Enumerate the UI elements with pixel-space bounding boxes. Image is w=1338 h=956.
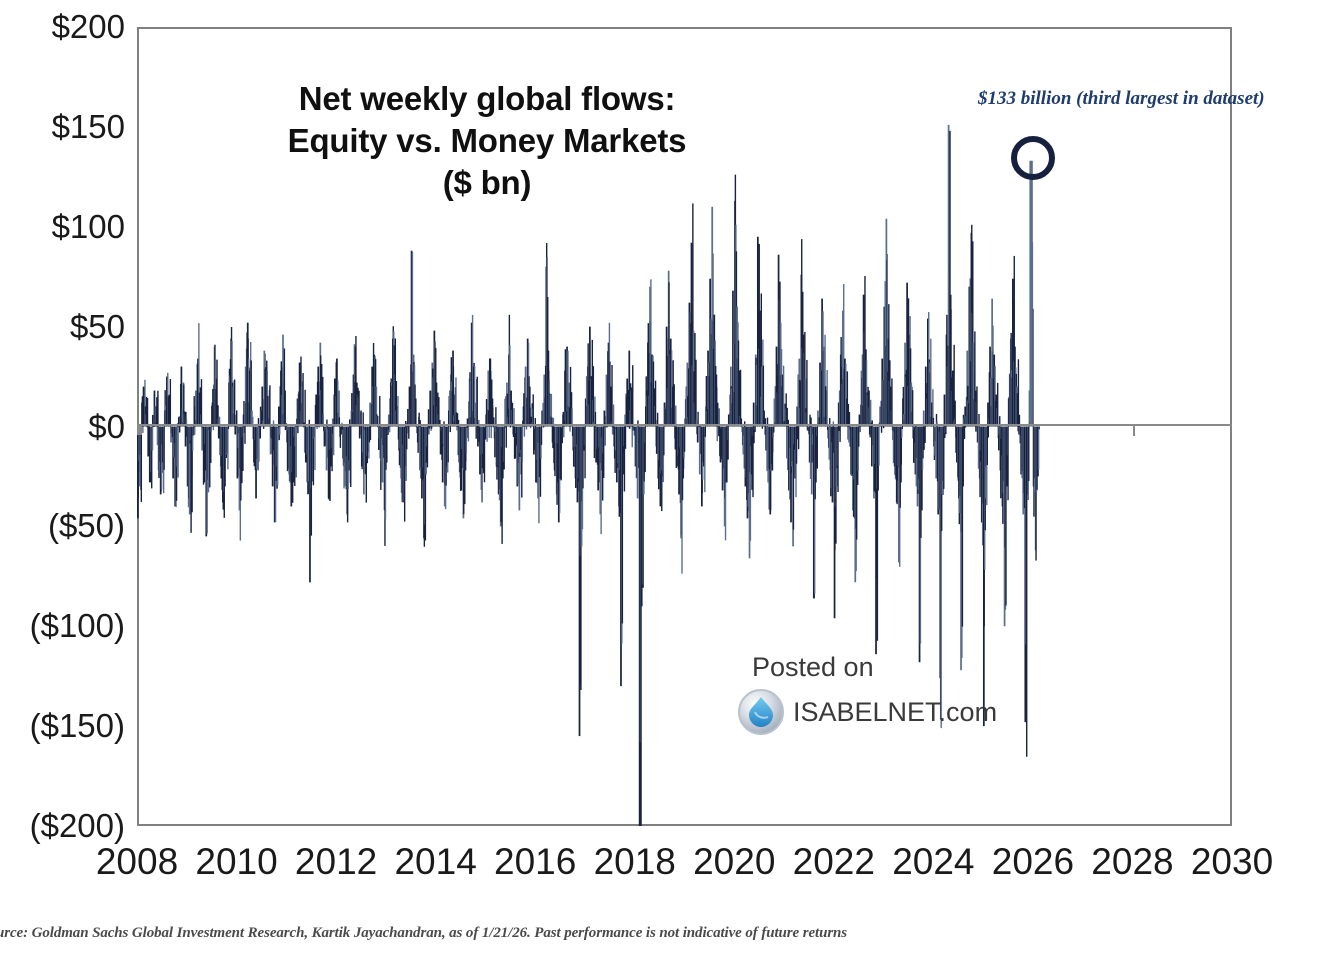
bar (727, 427, 728, 460)
x-axis-tick-label: 2018 (594, 843, 676, 880)
bar (141, 427, 142, 502)
bar (259, 427, 261, 439)
bar (783, 366, 784, 427)
bar (477, 377, 478, 427)
bar (798, 427, 799, 450)
bar (627, 427, 628, 428)
bar (569, 427, 570, 432)
bar (869, 427, 870, 438)
bar (370, 427, 371, 440)
chart-title-line-3: ($ bn) (232, 162, 742, 204)
bar (431, 427, 432, 429)
bar (740, 370, 741, 427)
bar (625, 427, 626, 449)
bar (644, 427, 645, 473)
bar (358, 391, 359, 427)
x-axis-tick-label: 2022 (793, 843, 875, 880)
bar (279, 427, 280, 435)
bar (881, 427, 882, 433)
axis-tick-2028 (1133, 426, 1135, 436)
bar (522, 427, 523, 463)
axis-tick-zero (137, 426, 142, 435)
bar (304, 390, 305, 427)
y-axis-tick-label: $150 (5, 110, 125, 143)
bar (406, 427, 407, 450)
bar (152, 427, 154, 451)
bar (954, 401, 955, 427)
watermark-posted-label: Posted on (752, 652, 874, 683)
y-axis-tick-label: $100 (5, 210, 125, 243)
bar (296, 427, 297, 478)
bar (944, 395, 946, 427)
watermark: Posted on IS (752, 652, 1002, 732)
bar (408, 427, 409, 439)
bar (870, 400, 871, 427)
bar (912, 390, 913, 426)
bar (860, 427, 861, 433)
bar (379, 396, 380, 427)
bar (656, 427, 657, 454)
bar (868, 391, 869, 427)
bar (157, 391, 158, 427)
bar (826, 370, 827, 426)
bar (935, 427, 937, 479)
bar (663, 427, 664, 456)
isabelnet-logo-icon (737, 688, 785, 736)
x-axis-tick-label: 2014 (394, 843, 476, 880)
bar (185, 427, 187, 447)
bar (510, 427, 511, 428)
bar (243, 401, 244, 427)
bar (506, 427, 507, 448)
highlighted-bar (1029, 161, 1032, 427)
y-axis-tick-label: ($150) (5, 709, 125, 742)
bar (263, 427, 264, 429)
bar (817, 427, 818, 469)
source-note: urce: Goldman Sachs Global Investment Re… (0, 925, 847, 942)
bar (194, 427, 195, 435)
bar (526, 427, 527, 430)
y-axis-tick-label: $50 (5, 310, 125, 343)
chart-title: Net weekly global flows: Equity vs. Mone… (232, 78, 742, 205)
bar (228, 427, 229, 429)
zero-baseline (137, 424, 1232, 426)
bar (504, 427, 506, 428)
bar (179, 427, 180, 433)
bar (333, 427, 334, 456)
bar (837, 427, 838, 493)
bar (430, 391, 431, 427)
bar (201, 379, 202, 426)
bar (234, 427, 236, 435)
bar (503, 427, 504, 470)
x-axis-tick-label: 2024 (892, 843, 974, 880)
bar (754, 427, 755, 433)
bar (491, 427, 492, 439)
bar (655, 381, 656, 427)
bar (603, 427, 604, 479)
bar (806, 360, 807, 427)
bar (773, 427, 774, 433)
bar (611, 365, 612, 426)
bar (211, 427, 212, 432)
bar (924, 427, 925, 443)
bar (878, 427, 879, 466)
bar (277, 427, 278, 486)
bar (945, 427, 946, 435)
bar (448, 427, 449, 463)
bar (883, 427, 884, 429)
chart-title-line-1: Net weekly global flows: (232, 78, 742, 120)
bar (242, 427, 243, 471)
bar (485, 427, 486, 440)
y-axis-tick-label: ($100) (5, 609, 125, 642)
bar (415, 399, 417, 427)
bar (612, 427, 614, 435)
bar (234, 379, 235, 426)
bar (486, 427, 487, 442)
bar (902, 427, 903, 430)
bar (359, 427, 360, 436)
bar (417, 427, 418, 453)
bar (170, 379, 171, 426)
bar (142, 427, 143, 433)
x-axis-tick-label: 2008 (96, 843, 178, 880)
bar (762, 427, 763, 429)
x-axis-tick-label: 2012 (295, 843, 377, 880)
bar (468, 427, 469, 442)
bar (524, 427, 525, 437)
bar (314, 427, 315, 471)
bar (962, 427, 964, 487)
bar (210, 427, 211, 463)
bar (429, 427, 430, 429)
bar (397, 396, 398, 426)
bar (318, 427, 319, 428)
bar (606, 427, 607, 428)
bar (213, 427, 214, 431)
bar (201, 427, 203, 451)
x-axis-tick-label: 2010 (195, 843, 277, 880)
bar (563, 427, 564, 438)
bar (163, 427, 164, 470)
bar (562, 427, 563, 444)
y-axis-tick-label: ($200) (5, 809, 125, 842)
bar (965, 427, 966, 428)
bar (530, 427, 531, 429)
bar (297, 427, 298, 434)
bar (285, 427, 286, 431)
bar (593, 366, 594, 426)
x-axis-tick-label: 2030 (1191, 843, 1273, 880)
bar (988, 427, 989, 438)
bar (466, 427, 467, 454)
x-axis-tick-label: 2016 (494, 843, 576, 880)
bar (534, 427, 535, 450)
bar (1038, 427, 1039, 430)
bar (832, 427, 834, 503)
x-axis-tick-label: 2020 (693, 843, 775, 880)
bar (541, 427, 542, 445)
bar (284, 391, 286, 427)
bar (227, 427, 228, 470)
bar (695, 360, 696, 427)
bar (192, 427, 193, 436)
bar (525, 367, 527, 427)
highlight-annotation-label: $133 billion (third largest in dataset) (978, 88, 1265, 110)
bar (976, 386, 977, 426)
bar (684, 427, 685, 452)
bar (477, 427, 479, 447)
bar (839, 427, 840, 442)
y-axis-tick-label: $200 (5, 10, 125, 43)
chart-title-line-2: Equity vs. Money Markets (232, 120, 742, 162)
bar (1028, 427, 1029, 481)
bar (705, 427, 706, 437)
bar (302, 373, 303, 427)
bar (350, 427, 351, 488)
bar (543, 427, 544, 428)
chart-root: $200$150$100$50$0($50)($100)($150)($200)… (0, 0, 1338, 956)
bar (316, 427, 317, 429)
bar (584, 427, 585, 479)
bar (1038, 427, 1039, 470)
watermark-site-label: ISABELNET.com (793, 697, 997, 728)
bar (488, 427, 489, 438)
bar (594, 427, 595, 459)
bar (389, 427, 390, 433)
x-axis-tick-label: 2028 (1091, 843, 1173, 880)
bar (753, 403, 755, 427)
bar (147, 398, 148, 426)
bar (632, 365, 633, 426)
bar (697, 427, 699, 443)
bar (450, 427, 451, 433)
bar (674, 384, 675, 426)
bar (269, 385, 270, 426)
bar (891, 378, 892, 426)
bar (997, 383, 998, 427)
bar (533, 394, 534, 426)
bar (1007, 427, 1008, 501)
bar (717, 427, 718, 442)
bar (512, 403, 513, 427)
bar (244, 427, 245, 444)
bar (858, 427, 859, 447)
x-axis: 2008201020122014201620182020202220242026… (0, 843, 1338, 889)
x-axis-tick-label: 2026 (992, 843, 1074, 880)
watermark-site-row: ISABELNET.com (737, 688, 997, 736)
bar (964, 427, 965, 440)
bar (629, 427, 630, 429)
bar (975, 427, 976, 432)
y-axis-tick-label: ($50) (5, 509, 125, 542)
bar (717, 403, 718, 427)
bar (340, 427, 342, 435)
bar (476, 427, 477, 439)
bar (605, 427, 606, 446)
bar (177, 427, 178, 478)
y-axis-tick-label: $0 (5, 410, 125, 443)
highlight-circle-marker (1011, 136, 1055, 180)
